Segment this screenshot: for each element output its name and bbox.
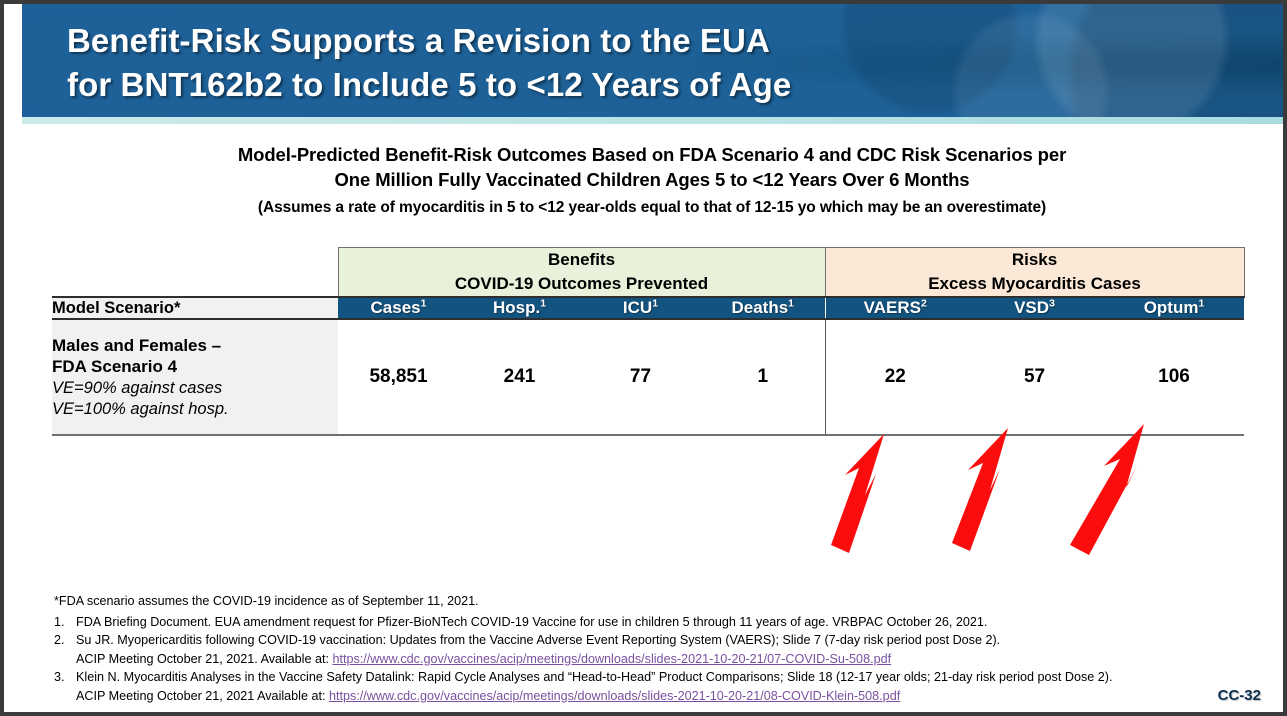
column-header-deaths-sup: 1 (788, 298, 794, 310)
group-header-risks-line1: Risks (826, 248, 1244, 272)
footnote-1-number: 1. (54, 613, 76, 632)
footnote-2-source-prefix: ACIP Meeting October 21, 2021. Available… (76, 652, 332, 666)
slide: Benefit-Risk Supports a Revision to the … (0, 0, 1287, 716)
group-header-benefits-line1: Benefits (339, 248, 825, 272)
table-group-header-row: Benefits COVID-19 Outcomes Prevented Ris… (52, 248, 1244, 298)
column-header-vaers-sup: 2 (921, 298, 927, 310)
subtitle-line-1: Model-Predicted Benefit-Risk Outcomes Ba… (66, 142, 1238, 167)
cell-vsd-value: 57 (965, 319, 1104, 435)
footnotes: *FDA scenario assumes the COVID-19 incid… (54, 592, 1249, 705)
footnote-item-3: 3. Klein N. Myocarditis Analyses in the … (54, 668, 1249, 687)
column-header-optum-label: Optum (1144, 298, 1199, 317)
subtitle-block: Model-Predicted Benefit-Risk Outcomes Ba… (66, 142, 1238, 220)
cell-model-scenario: Males and Females – FDA Scenario 4 VE=90… (52, 319, 338, 435)
column-header-icu-label: ICU (623, 298, 652, 317)
arrow-to-vaers-icon (831, 434, 884, 553)
slide-number: CC-32 (1218, 687, 1261, 704)
column-header-deaths-label: Deaths (731, 298, 788, 317)
arrow-to-optum-icon (1070, 424, 1144, 555)
scenario-bold-line2: FDA Scenario 4 (52, 356, 338, 377)
scenario-italic-line1: VE=90% against cases (52, 378, 338, 399)
column-header-model-scenario-sup: * (174, 299, 180, 317)
column-header-cases-sup: 1 (421, 298, 427, 310)
group-header-spacer (52, 248, 338, 298)
footnote-1-text: FDA Briefing Document. EUA amendment req… (76, 613, 1249, 632)
cell-hosp-value: 241 (459, 319, 580, 435)
cell-optum-value: 106 (1104, 319, 1244, 435)
group-header-risks-line2: Excess Myocarditis Cases (826, 272, 1244, 296)
footnote-2-source: ACIP Meeting October 21, 2021. Available… (54, 650, 1249, 669)
scenario-italic-line2: VE=100% against hosp. (52, 399, 338, 420)
footnote-3-source: ACIP Meeting October 21, 2021 Available … (54, 687, 1249, 706)
column-header-icu-sup: 1 (652, 298, 658, 310)
footnote-3-link[interactable]: https://www.cdc.gov/vaccines/acip/meetin… (329, 689, 900, 703)
column-header-icu: ICU1 (580, 297, 701, 319)
table-row: Males and Females – FDA Scenario 4 VE=90… (52, 319, 1244, 435)
footnote-2-number: 2. (54, 631, 76, 650)
footnote-star: *FDA scenario assumes the COVID-19 incid… (54, 592, 1249, 611)
footnote-item-1: 1. FDA Briefing Document. EUA amendment … (54, 613, 1249, 632)
cell-icu-value: 77 (580, 319, 701, 435)
column-header-deaths: Deaths1 (701, 297, 825, 319)
page-title-line2: for BNT162b2 to Include 5 to <12 Years o… (67, 63, 1043, 107)
footnote-2-link[interactable]: https://www.cdc.gov/vaccines/acip/meetin… (332, 652, 891, 666)
column-header-vsd-sup: 3 (1049, 298, 1055, 310)
column-header-hosp: Hosp.1 (459, 297, 580, 319)
banner-accent-strip (22, 117, 1283, 124)
footnote-2-text: Su JR. Myopericarditis following COVID-1… (76, 631, 1249, 650)
title-banner: Benefit-Risk Supports a Revision to the … (22, 4, 1283, 124)
column-header-vaers: VAERS2 (825, 297, 965, 319)
page-title: Benefit-Risk Supports a Revision to the … (67, 19, 1043, 107)
table-column-header-row: Model Scenario* Cases1 Hosp.1 ICU1 Death… (52, 297, 1244, 319)
column-header-vaers-label: VAERS (864, 298, 921, 317)
page-title-line1: Benefit-Risk Supports a Revision to the … (67, 19, 1043, 63)
column-header-vsd-label: VSD (1014, 298, 1049, 317)
column-header-hosp-label: Hosp. (493, 298, 540, 317)
cell-vaers-value: 22 (825, 319, 965, 435)
column-header-cases: Cases1 (338, 297, 459, 319)
footnote-3-source-prefix: ACIP Meeting October 21, 2021 Available … (76, 689, 329, 703)
column-header-model-scenario-label: Model Scenario (52, 299, 174, 317)
column-header-hosp-sup: 1 (540, 298, 546, 310)
cell-deaths-value: 1 (701, 319, 825, 435)
benefit-risk-table: Benefits COVID-19 Outcomes Prevented Ris… (52, 247, 1244, 436)
group-header-benefits-line2: COVID-19 Outcomes Prevented (339, 272, 825, 296)
group-header-benefits: Benefits COVID-19 Outcomes Prevented (338, 248, 825, 298)
footnote-3-text: Klein N. Myocarditis Analyses in the Vac… (76, 668, 1249, 687)
group-header-risks: Risks Excess Myocarditis Cases (825, 248, 1244, 298)
footnote-item-2: 2. Su JR. Myopericarditis following COVI… (54, 631, 1249, 650)
cell-cases-value: 58,851 (338, 319, 459, 435)
footnote-3-number: 3. (54, 668, 76, 687)
arrow-to-vsd-icon (952, 428, 1008, 551)
subtitle-line-3: (Assumes a rate of myocarditis in 5 to <… (66, 196, 1238, 219)
column-header-optum: Optum1 (1104, 297, 1244, 319)
scenario-bold-line1: Males and Females – (52, 335, 338, 356)
column-header-model-scenario: Model Scenario* (52, 297, 338, 319)
column-header-cases-label: Cases (371, 298, 421, 317)
column-header-optum-sup: 1 (1198, 298, 1204, 310)
subtitle-line-2: One Million Fully Vaccinated Children Ag… (66, 167, 1238, 192)
column-header-vsd: VSD3 (965, 297, 1104, 319)
